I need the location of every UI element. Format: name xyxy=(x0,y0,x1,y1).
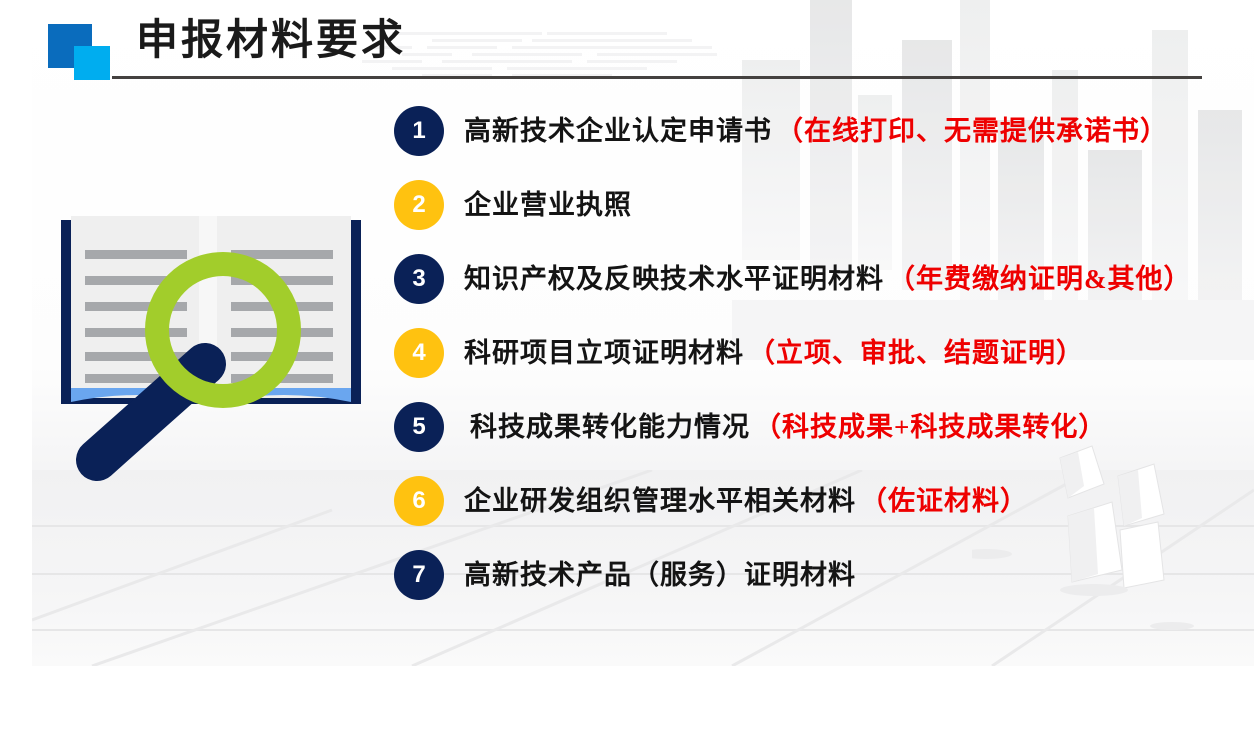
list-item-label: 科技成果转化能力情况 xyxy=(470,412,750,442)
list-item-label: 高新技术企业认定申请书 xyxy=(464,116,772,146)
list-item-text: 知识产权及反映技术水平证明材料（年费缴纳证明&其他） xyxy=(464,259,1192,299)
list-item-number-badge: 3 xyxy=(394,254,444,304)
list-item-note: （科技成果+科技成果转化） xyxy=(754,412,1106,442)
title-divider xyxy=(112,76,1202,79)
list-item-number-badge: 6 xyxy=(394,476,444,526)
logo-mark xyxy=(48,24,120,80)
list-item-note: （年费缴纳证明&其他） xyxy=(888,264,1192,294)
list-item-text: 科研项目立项证明材料（立项、审批、结题证明） xyxy=(464,333,1084,373)
list-item-text: 企业营业执照 xyxy=(464,185,636,225)
list-item-text: 高新技术企业认定申请书（在线打印、无需提供承诺书） xyxy=(464,111,1168,151)
open-book-magnifier-illustration xyxy=(55,212,375,497)
list-item-number-badge: 1 xyxy=(394,106,444,156)
list-item[interactable]: 1 高新技术企业认定申请书（在线打印、无需提供承诺书） xyxy=(394,106,1244,180)
requirements-list: 1 高新技术企业认定申请书（在线打印、无需提供承诺书） 2 企业营业执照 3 知… xyxy=(394,106,1244,624)
list-item-label: 科研项目立项证明材料 xyxy=(464,338,744,368)
list-item-number-badge: 2 xyxy=(394,180,444,230)
list-item[interactable]: 3 知识产权及反映技术水平证明材料（年费缴纳证明&其他） xyxy=(394,254,1244,328)
list-item[interactable]: 7 高新技术产品（服务）证明材料 xyxy=(394,550,1244,624)
list-item-number-badge: 5 xyxy=(394,402,444,452)
list-item[interactable]: 4 科研项目立项证明材料（立项、审批、结题证明） xyxy=(394,328,1244,402)
slide-canvas: 申报材料要求 xyxy=(0,0,1254,736)
list-item-note: （立项、审批、结题证明） xyxy=(748,338,1084,368)
slide-header: 申报材料要求 xyxy=(0,0,1254,96)
list-item-note: （在线打印、无需提供承诺书） xyxy=(776,116,1168,146)
list-item-note: （佐证材料） xyxy=(860,486,1028,516)
list-item-label: 知识产权及反映技术水平证明材料 xyxy=(464,264,884,294)
logo-square-light-icon xyxy=(74,46,110,80)
list-item-number-badge: 7 xyxy=(394,550,444,600)
list-item-label: 企业营业执照 xyxy=(464,190,632,220)
list-item[interactable]: 2 企业营业执照 xyxy=(394,180,1244,254)
list-item[interactable]: 5 科技成果转化能力情况（科技成果+科技成果转化） xyxy=(394,402,1244,476)
list-item-text: 企业研发组织管理水平相关材料（佐证材料） xyxy=(464,481,1028,521)
page-title: 申报材料要求 xyxy=(136,13,406,69)
list-item-number-badge: 4 xyxy=(394,328,444,378)
list-item-label: 高新技术产品（服务）证明材料 xyxy=(464,560,856,590)
list-item[interactable]: 6 企业研发组织管理水平相关材料（佐证材料） xyxy=(394,476,1244,550)
list-item-text: 科技成果转化能力情况（科技成果+科技成果转化） xyxy=(470,407,1106,447)
list-item-text: 高新技术产品（服务）证明材料 xyxy=(464,555,860,595)
list-item-label: 企业研发组织管理水平相关材料 xyxy=(464,486,856,516)
